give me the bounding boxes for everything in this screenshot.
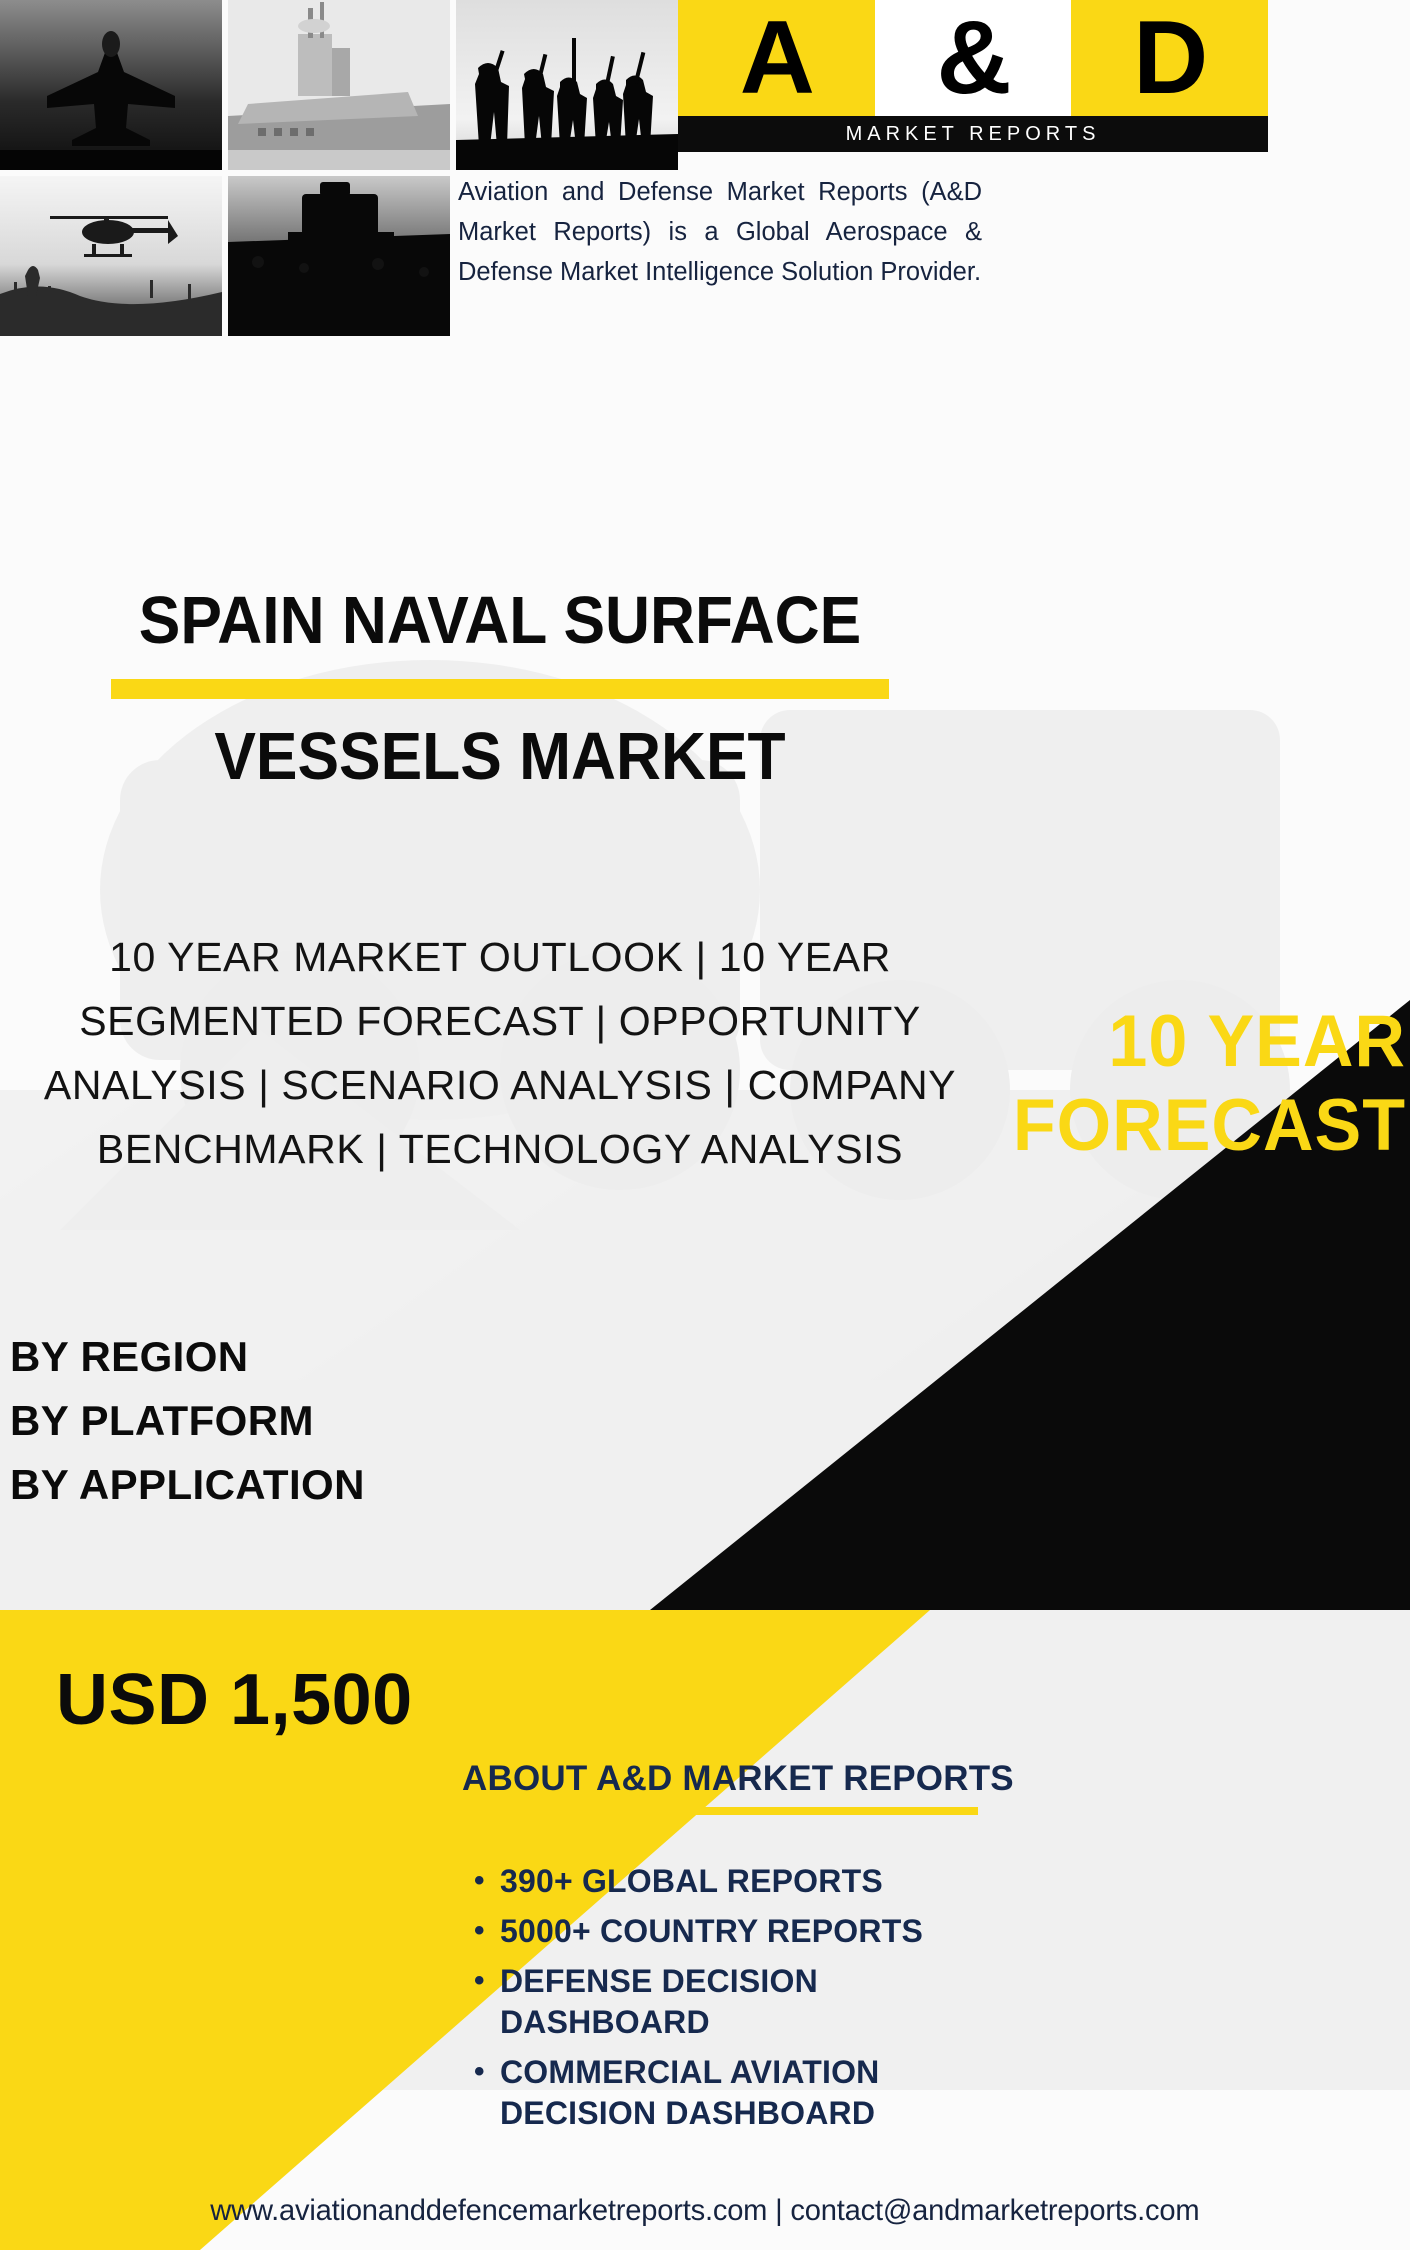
title-yellow-rule [111,679,889,699]
forecast-badge-line-1: 10 YEAR [651,1000,1406,1084]
title-block: SPAIN NAVAL SURFACE VESSELS MARKET [0,585,1000,793]
list-item: 5000+ COUNTRY REPORTS [462,1911,982,1952]
list-item: 390+ GLOBAL REPORTS [462,1861,982,1902]
list-item: DEFENSE DECISION DASHBOARD [462,1961,982,2043]
forecast-badge: 10 YEAR FORECAST [620,1000,1410,1168]
segmentation-list: BY REGION BY PLATFORM BY APPLICATION [10,1325,610,1517]
about-yellow-rule [462,1807,978,1815]
price-block: USD 1,500 [56,1660,576,1740]
price-value: USD 1,500 [56,1660,576,1740]
segmentation-item-platform: BY PLATFORM [10,1389,610,1453]
list-item: COMMERCIAL AVIATION DECISION DASHBOARD [462,2052,982,2134]
page-title-line-2: VESSELS MARKET [35,721,965,793]
forecast-badge-line-2: FORECAST [651,1084,1406,1168]
page-title-line-1: SPAIN NAVAL SURFACE [35,585,965,657]
about-bullet-list: 390+ GLOBAL REPORTS 5000+ COUNTRY REPORT… [462,1861,982,2134]
about-heading: ABOUT A&D MARKET REPORTS [462,1758,982,1800]
segmentation-item-region: BY REGION [10,1325,610,1389]
footer-contact-text: www.aviationanddefencemarketreports.com … [210,2194,1199,2228]
about-section: ABOUT A&D MARKET REPORTS 390+ GLOBAL REP… [462,1758,982,2143]
footer-bar: www.aviationanddefencemarketreports.com … [0,2172,1410,2250]
segmentation-item-application: BY APPLICATION [10,1453,610,1517]
